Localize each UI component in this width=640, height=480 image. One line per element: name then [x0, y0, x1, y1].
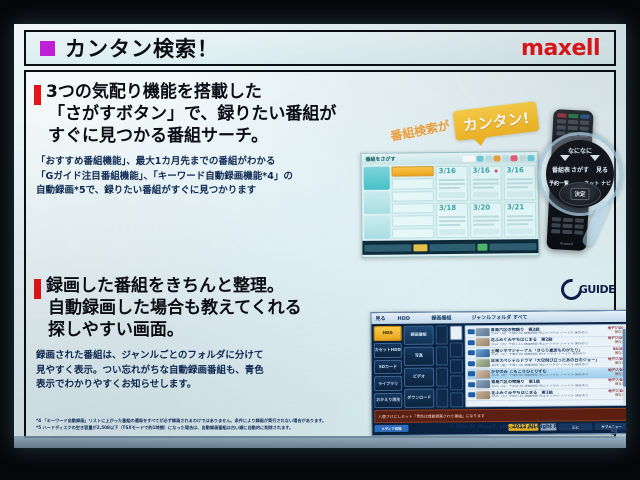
library-genre-item — [436, 325, 448, 344]
section1-body-line2: 「Gガイド注目番組機能」、「キーワード自動録画機能*4」の — [36, 170, 374, 184]
library-category-photo: 写真 — [404, 347, 434, 366]
epg-pill-5 — [510, 155, 517, 161]
library-category-download: ダウンロード — [404, 389, 434, 408]
epg-left-icons — [364, 167, 391, 239]
library-topbar-category: 録画番組 — [431, 314, 471, 321]
epg-footer-key-2 — [413, 244, 427, 251]
section1-headline: 3つの気配り機能を搭載した 「さがすボタン」で、録りたい番組が すぐに見つかる番… — [46, 82, 336, 147]
epg-menu-item-4 — [392, 203, 434, 214]
row-thumbnail — [476, 380, 490, 388]
epg-card-date: 3/16 — [507, 167, 524, 174]
row-state: 保存済 — [601, 341, 625, 345]
copyright: © Hitachi Maxell, Ltd. 2012 All Right Re… — [449, 424, 582, 430]
library-folder-item — [450, 342, 463, 357]
row-subtitle: 3/05（火）午前1:15 録画時間 地上デジタル ノーマル 保存あり — [491, 394, 600, 399]
row-state: 保存済 — [601, 383, 625, 387]
g-guide-mark-icon — [557, 274, 586, 303]
section2-headline-line3: 探しやすい画面。 — [48, 320, 302, 342]
epg-footer-key-1 — [364, 244, 411, 251]
row-channel-tag-icon — [468, 371, 475, 376]
epg-pill-6 — [519, 155, 526, 161]
row-state: 保存済 — [601, 373, 625, 377]
section2-headline-line2: 自動録画した場合も教えてくれる — [48, 298, 302, 320]
library-topbar-device: HDD — [397, 315, 431, 321]
epg-menu-item-2 — [392, 178, 434, 189]
library-device-cassette-hdd: カセットHDD — [374, 343, 402, 358]
row-thumbnail — [476, 328, 490, 336]
library-topbar-folder: ジャンルフォルダ すべて — [471, 313, 625, 321]
row-channel-tag-icon — [468, 382, 475, 387]
library-genre-item — [436, 367, 448, 386]
epg-pill-3 — [493, 155, 500, 161]
remote-lower-keys — [551, 217, 584, 235]
row-subtitle: 3/10（土）午後9:00 録画時間 BSデジタル ノーマル 保存あり — [491, 352, 600, 357]
epg-program-grid: 3/16 3/16 3/16 3/18 — [436, 165, 537, 238]
slide-bottom-band — [14, 436, 626, 448]
remote-brand: maxell — [547, 241, 587, 247]
epg-card: 3/16 — [470, 165, 502, 200]
library-device-column: HDD カセットHDD SDカード ライブラリ おかえり再生 — [374, 326, 403, 408]
epg-card: 3/18 — [436, 203, 468, 238]
row-thumbnail — [476, 391, 490, 399]
remote-button-watch: 見る — [596, 165, 608, 174]
section1-headline-line1: 3つの気配り機能を搭載した — [46, 82, 336, 104]
row-channel-tag-icon — [468, 361, 475, 366]
row-subtitle: 3/09（金）午後7:30 録画時間 地上デジタル ノーマル 保存あり — [491, 363, 600, 368]
epg-menu-list — [392, 166, 435, 238]
remote-button-top: なになに — [568, 146, 592, 155]
epg-card: 3/20 — [470, 202, 502, 237]
row-subtitle: 3/05（月）午前0:30 録画時間 地上デジタル ノーマル 保存あり — [491, 384, 600, 389]
g-guide-logo: GUIDE — [557, 278, 619, 300]
section2-body-line1: 録画された番組は、ジャンルごとのフォルダに分けて — [36, 349, 379, 363]
remote-dpad: 決定 — [559, 182, 601, 206]
row-state: 保存済 — [601, 362, 625, 366]
section2-body: 録画された番組は、ジャンルごとのフォルダに分けて 見やすく表示。つい忘れがちな自… — [36, 349, 379, 392]
epg-menu-item-selected — [392, 166, 434, 177]
library-folder-item — [450, 376, 463, 391]
header-bullet-icon — [40, 41, 55, 56]
epg-card: 3/21 — [504, 202, 536, 237]
list-scrollbar[interactable] — [623, 326, 626, 404]
epg-pill-1 — [476, 155, 483, 161]
epg-menu-item-5 — [392, 215, 434, 226]
epg-footer-key-3 — [429, 243, 476, 250]
epg-menu-item-3 — [392, 191, 434, 202]
row-state: 保存済 — [601, 394, 625, 398]
epg-card-date: 3/20 — [473, 205, 490, 212]
library-folder-item — [450, 359, 463, 374]
footnotes: *4 「キーワード自動録画」リストに上がった番組の選局をすべてが必ず録画されるわ… — [36, 418, 616, 432]
epg-icon-osusume — [364, 167, 390, 190]
row-state: 保存済 — [601, 352, 625, 356]
maxell-logo: maxell — [521, 36, 600, 61]
epg-title: 番組をさがす — [365, 156, 395, 163]
epg-icon-person — [364, 216, 390, 239]
epg-pill-7 — [527, 155, 534, 161]
library-category-column: 録画番組 写真 ビデオ ダウンロード — [404, 326, 435, 408]
section2-headline: 録画した番組をきちんと整理。 自動録画した場合も教えてくれる 探しやすい画面。 — [46, 276, 302, 341]
section1-headline-line2: 「さがすボタン」で、録りたい番組が — [48, 104, 336, 126]
library-device-sd-card: SDカード — [374, 359, 402, 374]
row-subtitle: 3/08（木）午後8:00 録画時間 地上デジタル ノーマル 保存あり — [491, 373, 600, 378]
row-thumbnail — [476, 359, 490, 367]
row-channel-tag-icon — [468, 340, 475, 345]
epg-card-date: 3/16 — [439, 168, 456, 175]
library-device-okaeri: おかえり再生 — [374, 393, 402, 408]
row-channel-tag-icon — [468, 329, 475, 334]
g-guide-text: GUIDE — [579, 283, 615, 296]
page-title: カンタン検索！ — [65, 33, 219, 63]
arrow-up-right-icon — [590, 155, 600, 161]
section1-body-line1: 「おすすめ番組機能」、最大1カ月先までの番組がわかる — [36, 155, 374, 169]
epg-footer-key-4 — [478, 243, 488, 250]
epg-footer-bar — [362, 239, 538, 255]
section1-body-line3: 自動録画*5で、録りたい番組がすぐに見つかります — [36, 184, 374, 198]
slide-header: カンタン検索！ maxell — [24, 30, 616, 66]
library-device-hdd: HDD — [374, 326, 402, 341]
section1-bullet-icon — [34, 85, 41, 105]
row-state: 保存済 — [601, 331, 625, 335]
epg-pill-wide — [462, 155, 475, 161]
library-genre-item — [436, 388, 448, 407]
magnifier-loupe: なになに 番組表 さがす 見る 予約一覧 ネット ナビ 決定 — [538, 132, 622, 216]
row-channel-tag-icon — [468, 350, 475, 355]
section2-body-line3: 表示でわかりやすくお知らせします。 — [36, 378, 379, 392]
epg-card-date: 3/18 — [439, 205, 456, 212]
section2-body-line2: 見やすく表示。つい忘れがちな自動録画番組も、青色 — [36, 364, 379, 378]
projected-slide-photo: カンタン検索！ maxell 3つの気配り機能を搭載した 「さがすボタン」で、録… — [0, 0, 640, 480]
magnifier-content: なになに 番組表 さがす 見る 予約一覧 ネット ナビ 決定 — [546, 140, 614, 208]
callout-bubble: カンタン! — [452, 101, 539, 141]
section2-headline-line1: 録画した番組をきちんと整理。 — [46, 276, 302, 298]
library-folder-item — [450, 393, 463, 408]
table-row: 花ふみぐみやちはじまる 第1話 3/05（火）午前1:15 録画時間 地上デジタ… — [467, 389, 626, 401]
arrow-up-left-icon — [560, 155, 570, 161]
row-thumbnail — [476, 338, 490, 346]
epg-card-date: 3/16 — [473, 168, 490, 175]
epg-search-screenshot: 番組をさがす — [360, 151, 539, 258]
callout-bubble-text: カンタン! — [453, 106, 539, 137]
row-subtitle: 3/12（月）午前0:30 録画時間 地上デジタル ノーマル 保存あり — [491, 331, 600, 336]
epg-card: 3/16 — [504, 165, 536, 200]
library-category-video: ビデオ — [404, 368, 434, 387]
section1-body: 「おすすめ番組機能」、最大1カ月先までの番組がわかる 「Gガイド注目番組機能」、… — [36, 155, 374, 198]
row-thumbnail — [476, 349, 490, 357]
remote-button-search: さがす — [571, 165, 589, 174]
epg-pill-2 — [485, 155, 492, 161]
epg-footer-key-5 — [490, 243, 537, 250]
library-topbar-mode: 見る — [375, 315, 397, 322]
remote-button-program-guide: 番組表 — [552, 165, 570, 174]
epg-menu-item-6 — [392, 228, 434, 239]
section2-bullet-icon — [34, 279, 41, 299]
library-program-list: 青島六区の物語り 第2話 3/12（月）午前0:30 録画時間 地上デジタル ノ… — [465, 324, 626, 407]
library-device-library: ライブラリ — [374, 376, 402, 391]
library-folder-column — [450, 325, 464, 407]
library-category-recorded: 録画番組 — [404, 326, 434, 345]
slide: カンタン検索！ maxell 3つの気配り機能を搭載した 「さがすボタン」で、録… — [14, 24, 626, 448]
epg-card-badge-icon — [495, 169, 498, 172]
section1-headline-line3: すぐに見つかる番組サーチ。 — [48, 126, 336, 148]
epg-card-date: 3/21 — [507, 204, 524, 211]
epg-tab-pills — [462, 155, 535, 162]
remote-button-ok: 決定 — [570, 188, 589, 200]
scrollbar-thumb[interactable] — [623, 329, 626, 387]
search-callout: 番組検索が カンタン! — [390, 102, 540, 150]
row-thumbnail — [476, 370, 490, 378]
section-search: 3つの気配り機能を搭載した 「さがすボタン」で、録りたい番組が すぐに見つかる番… — [34, 82, 374, 198]
library-genre-item — [436, 346, 448, 365]
epg-main: 3/16 3/16 3/16 3/18 — [362, 163, 539, 241]
epg-card: 3/16 — [436, 166, 468, 201]
row-channel-tag-icon — [468, 392, 475, 397]
epg-icon-genre — [364, 191, 390, 214]
section-library: 録画した番組をきちんと整理。 自動録画した場合も教えてくれる 探しやすい画面。 … — [34, 276, 379, 392]
library-folder-all — [450, 325, 463, 340]
callout-lead-text: 番組検索が — [389, 116, 451, 144]
epg-pill-4 — [502, 155, 509, 161]
library-genre-column — [436, 325, 449, 407]
library-main: HDD カセットHDD SDカード ライブラリ おかえり再生 録画番組 写真 ビ… — [372, 322, 626, 410]
row-subtitle: 3/12（火）午前1:15 録画時間 地上デジタル ノーマル 保存あり — [491, 342, 600, 347]
